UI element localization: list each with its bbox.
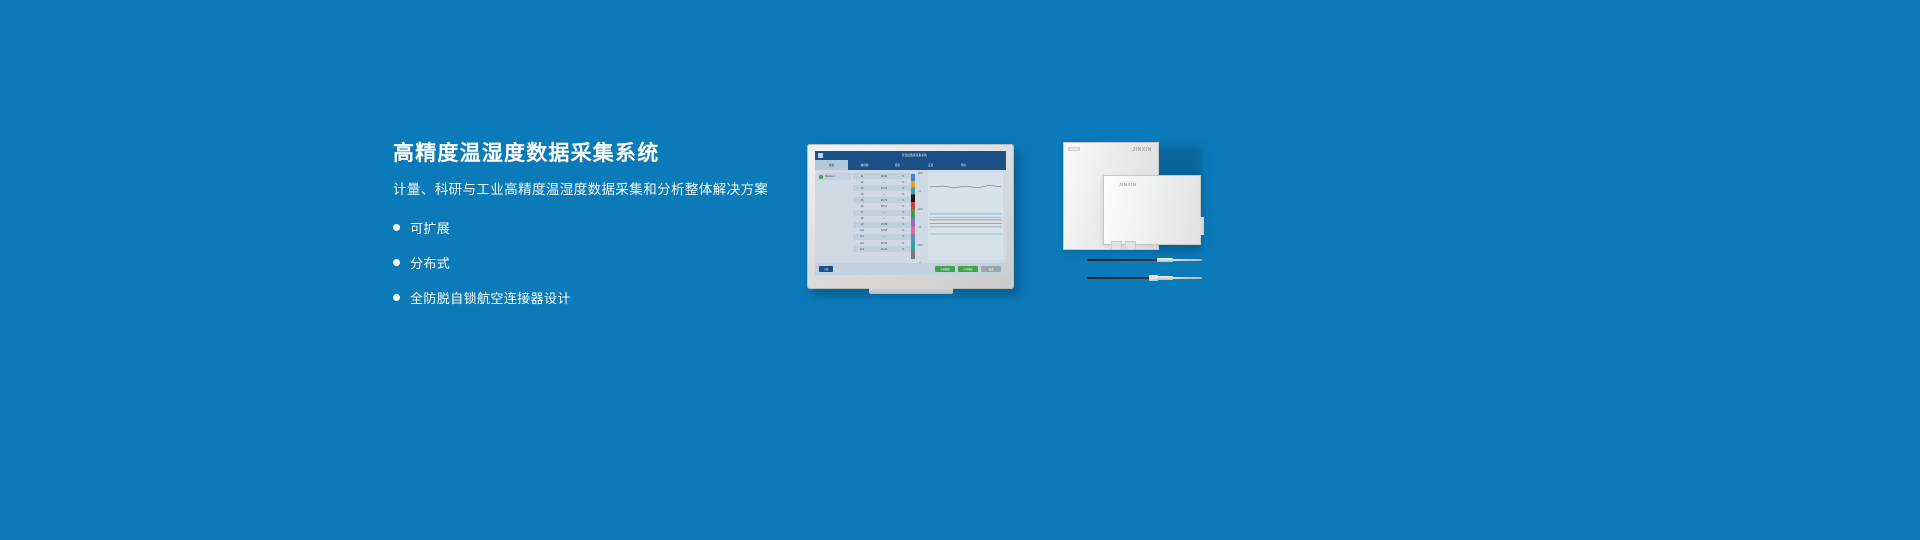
temperature-probe-upper <box>1087 258 1202 262</box>
tab-settings[interactable]: 设置 <box>914 160 947 170</box>
list-item: 分布式 <box>393 253 813 272</box>
cell-channel: 18 <box>853 217 871 220</box>
probe-cable <box>1087 259 1159 261</box>
cell-value: 26.72 <box>871 199 897 202</box>
cell-value: 26.19 <box>871 187 897 190</box>
cell-value: --- <box>871 181 897 184</box>
feature-label: 可扩展 <box>410 218 450 237</box>
probe-stem <box>1172 259 1202 261</box>
cell-unit: ℃ <box>897 242 909 245</box>
tab-data[interactable]: 数据 <box>815 160 848 170</box>
trend-chart-lines <box>928 173 1003 260</box>
cell-value: 25.91 <box>871 175 897 178</box>
bullet-dot-icon <box>393 294 400 301</box>
cell-unit: ℃ <box>897 193 909 196</box>
cell-channel: 11 <box>853 175 871 178</box>
logger-front-unit <box>1103 175 1201 245</box>
cell-channel: 14 <box>853 193 871 196</box>
cell-channel: 16 <box>853 205 871 208</box>
cell-value: 26.44 <box>871 248 897 251</box>
cell-value: 26.98 <box>871 223 897 226</box>
temperature-probe-product-image <box>1087 258 1202 294</box>
trend-chart <box>928 173 1003 260</box>
logger-vent-notch <box>1068 147 1080 151</box>
cell-value: --- <box>871 235 897 238</box>
cell-unit: ℃ <box>897 223 909 226</box>
cell-value: 26.61 <box>871 205 897 208</box>
list-item: 可扩展 <box>393 218 813 237</box>
axis-tick-label: -.0 <box>918 226 921 229</box>
cell-value: 26.88 <box>871 229 897 232</box>
cell-unit: ℃ <box>897 205 909 208</box>
logger-brand-label-front: JINXIN <box>1119 182 1137 187</box>
tab-help[interactable]: 帮助 <box>947 160 980 170</box>
page-title: 高精度温湿度数据采集系统 <box>393 140 813 167</box>
temperature-probe-lower <box>1087 276 1202 280</box>
logger-brand-label: JINXIN <box>1132 147 1152 153</box>
tab-report[interactable]: 报表 <box>881 160 914 170</box>
axis-tick-label: 23.0 <box>918 244 923 247</box>
feature-list: 可扩展 分布式 全防脱自锁航空连接器设计 <box>393 218 813 307</box>
cell-unit: ℃ <box>897 229 909 232</box>
cell-unit: ℃ <box>897 181 909 184</box>
cell-channel: 13 <box>853 187 871 190</box>
bullet-dot-icon <box>393 259 400 266</box>
table-row: 113 26.44 ℃ <box>853 246 911 252</box>
action-button-group: 导出数据 打印报表 退出 <box>935 266 1001 273</box>
feature-label: 全防脱自锁航空连接器设计 <box>410 288 571 307</box>
feature-label: 分布式 <box>410 253 450 272</box>
cell-channel: 111 <box>853 235 871 238</box>
export-data-button[interactable]: 导出数据 <box>935 266 955 273</box>
logger-port-row <box>1111 241 1136 250</box>
app-titlebar: 温湿度数据采集系统 <box>815 151 1006 160</box>
cell-value: --- <box>871 211 897 214</box>
channel-table: 11 25.91 ℃ 12 --- ℃ 13 26.19 ℃ <box>853 170 911 263</box>
logger-side-tab <box>1198 217 1204 235</box>
axis-tick-label: 25.0 <box>918 172 923 175</box>
app-title: 温湿度数据采集系统 <box>823 151 1006 160</box>
device-tree-sidebar: Module-1 <box>815 170 853 263</box>
chart-y-axis: 25.0 -.0 24.0 -.0 23.0 -.0 <box>917 170 928 263</box>
cell-channel: 110 <box>853 229 871 232</box>
cell-channel: 17 <box>853 211 871 214</box>
probe-stem <box>1172 277 1202 279</box>
monitor-stand <box>869 288 953 294</box>
cell-value: 25.96 <box>871 242 897 245</box>
cell-channel: 12 <box>853 181 871 184</box>
series-color-legend <box>911 174 915 259</box>
app-main-panel: Module-1 11 25.91 ℃ 12 --- ℃ 13 <box>815 170 1006 263</box>
cell-unit: ℃ <box>897 211 909 214</box>
print-report-button[interactable]: 打印报表 <box>958 266 978 273</box>
cell-unit: ℃ <box>897 217 909 220</box>
tab-chart[interactable]: 曲线图 <box>848 160 881 170</box>
cell-channel: 19 <box>853 223 871 226</box>
cell-unit: ℃ <box>897 248 909 251</box>
cell-channel: 113 <box>853 248 871 251</box>
cell-unit: ℃ <box>897 235 909 238</box>
app-tabbar: 数据 曲线图 报表 设置 帮助 <box>815 160 1006 170</box>
data-logger-product-image: JINXIN JINXIN <box>1063 142 1203 252</box>
cell-value: --- <box>871 217 897 220</box>
probe-ferrule <box>1157 258 1173 262</box>
product-banner: 高精度温湿度数据采集系统 计量、科研与工业高精度温湿度数据采集和分析整体解决方案… <box>0 0 1920 540</box>
monitor-screen: 温湿度数据采集系统 数据 曲线图 报表 设置 帮助 Module-1 <box>815 151 1006 275</box>
list-item: 全防脱自锁航空连接器设计 <box>393 288 813 307</box>
start-button[interactable]: 开始 <box>819 266 833 272</box>
logger-port <box>1125 241 1136 250</box>
exit-button[interactable]: 退出 <box>981 266 1001 273</box>
status-dot-icon <box>819 175 823 179</box>
cell-unit: ℃ <box>897 187 909 190</box>
app-button-bar: 开始 导出数据 打印报表 退出 <box>815 263 1006 275</box>
cell-value: --- <box>871 193 897 196</box>
panel-pc-product-image: 温湿度数据采集系统 数据 曲线图 报表 设置 帮助 Module-1 <box>807 144 1020 294</box>
banner-text-block: 高精度温湿度数据采集系统 计量、科研与工业高精度温湿度数据采集和分析整体解决方案… <box>393 140 813 323</box>
page-subtitle: 计量、科研与工业高精度温湿度数据采集和分析整体解决方案 <box>393 181 813 200</box>
logger-port <box>1111 241 1122 250</box>
cell-channel: 112 <box>853 242 871 245</box>
bullet-dot-icon <box>393 224 400 231</box>
cell-unit: ℃ <box>897 199 909 202</box>
axis-tick-label: -.0 <box>918 190 921 193</box>
module-label: Module-1 <box>825 175 835 178</box>
cell-unit: ℃ <box>897 175 909 178</box>
axis-tick-label: 24.0 <box>918 208 923 211</box>
sidebar-item-module[interactable]: Module-1 <box>817 173 851 180</box>
cell-channel: 15 <box>853 199 871 202</box>
probe-ferrule <box>1157 276 1173 280</box>
